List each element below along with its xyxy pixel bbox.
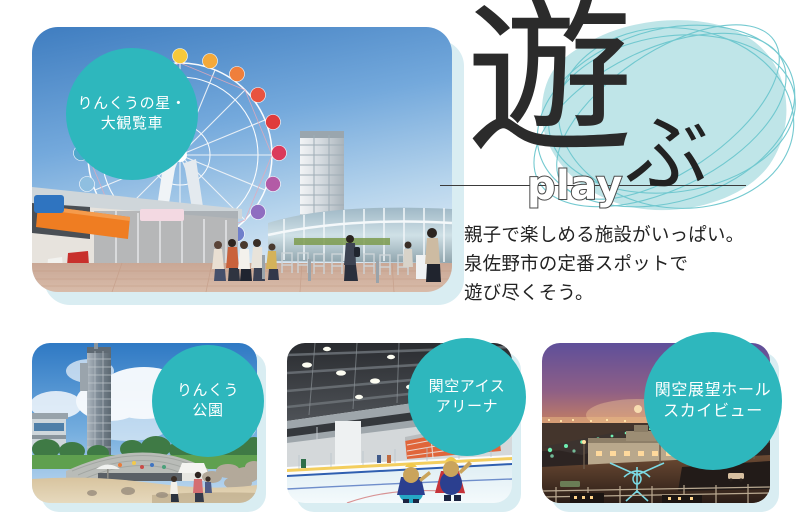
lede-line-3: 遊び尽くそう。 xyxy=(464,280,794,309)
page-title-kana: ぶ xyxy=(625,112,709,196)
lede-line-1: 親子で楽しめる施設がいっぱい。 xyxy=(464,222,794,251)
hero-badge-rinku-star[interactable]: りんくうの星・ 大観覧車 xyxy=(66,48,198,180)
hero-badge-line-2: 大観覧車 xyxy=(101,114,163,134)
lede-line-2: 泉佐野市の定番スポットで xyxy=(464,251,794,280)
lede-text: 親子で楽しめる施設がいっぱい。 泉佐野市の定番スポットで 遊び尽くそう。 xyxy=(464,222,794,309)
page-root: りんくうの星・ 大観覧車 遊 ぶ play 親子で楽しめる施設がいっぱい。 泉佐… xyxy=(0,0,800,515)
thumbnail-badge-line-2: スカイビュー xyxy=(663,401,763,422)
page-title-kanji: 遊 xyxy=(466,0,634,162)
thumbnail-badge-line-2: アリーナ xyxy=(436,397,498,417)
hero-badge-line-1: りんくうの星・ xyxy=(78,94,187,114)
thumbnail-badge-kanku-skyview[interactable]: 関空展望ホール スカイビュー xyxy=(644,332,782,470)
thumbnail-badge-line-2: 公園 xyxy=(192,401,223,421)
thumbnail-badge-rinku-park[interactable]: りんくう 公園 xyxy=(152,345,264,457)
thumbnail-badge-line-1: 関空展望ホール xyxy=(655,380,771,401)
page-title-romaji: play xyxy=(527,163,623,209)
thumbnail-badge-line-1: 関空アイス xyxy=(429,377,506,397)
thumbnail-badge-kanku-ice-arena[interactable]: 関空アイス アリーナ xyxy=(408,338,526,456)
thumbnail-badge-line-1: りんくう xyxy=(177,381,239,401)
